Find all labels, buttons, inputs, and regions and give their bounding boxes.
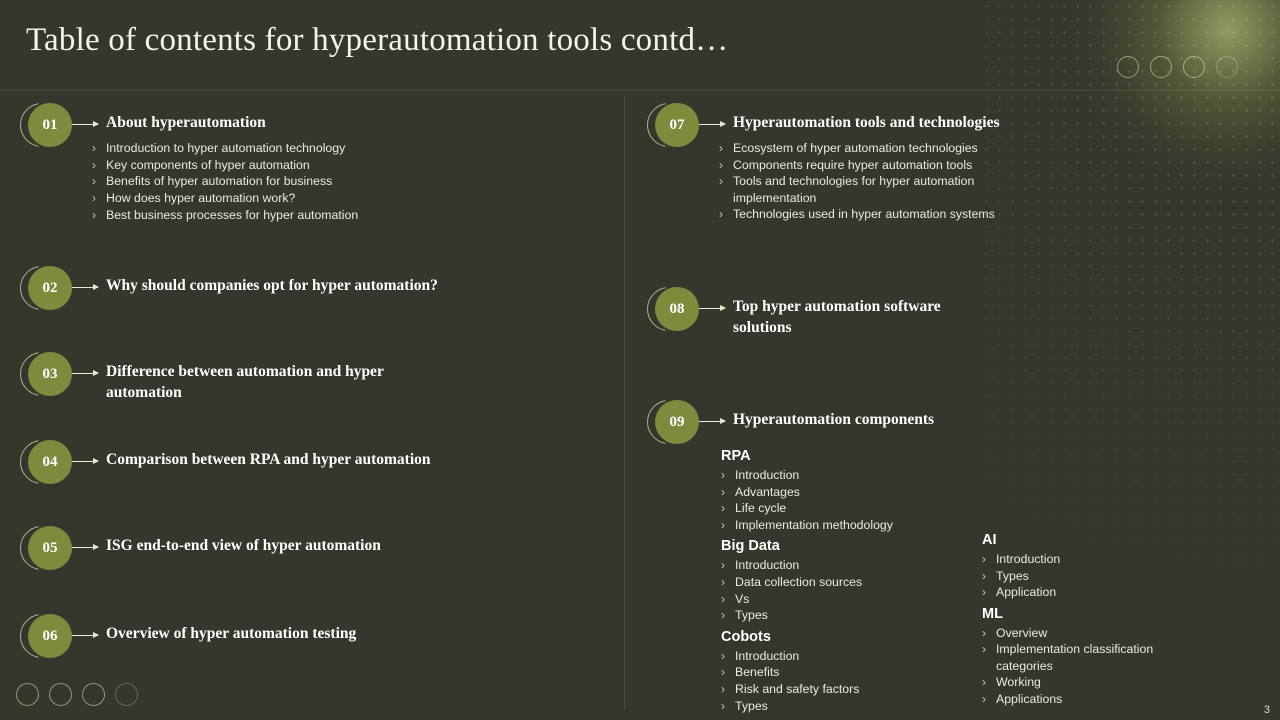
list-item-label: Types: [735, 607, 768, 623]
list-item[interactable]: ›Key components of hyper automation: [92, 157, 542, 173]
toc-number-07: 07: [655, 103, 699, 147]
toc-number-04: 04: [28, 440, 72, 484]
toc-title-06: Overview of hyper automation testing: [106, 614, 356, 645]
toc-title-07: Hyperautomation tools and technologies: [733, 103, 1000, 134]
chevron-right-icon: ›: [982, 674, 996, 690]
list-item-label: Best business processes for hyper automa…: [106, 207, 358, 223]
chevron-right-icon: ›: [92, 173, 106, 189]
toc-number-badge: 09: [641, 400, 703, 444]
list-item[interactable]: ›Tools and technologies for hyper automa…: [719, 173, 1049, 205]
toc-number-badge: 06: [14, 614, 76, 658]
arrow-icon: [72, 635, 98, 636]
list-item[interactable]: ›How does hyper automation work?: [92, 190, 542, 206]
list-item-label: Key components of hyper automation: [106, 157, 310, 173]
list-item[interactable]: ›Implementation methodology: [721, 517, 971, 533]
list-item[interactable]: ›Introduction: [721, 648, 971, 664]
chevron-right-icon: ›: [721, 698, 735, 714]
list-item[interactable]: ›Ecosystem of hyper automation technolog…: [719, 140, 1049, 156]
components-left-groups: RPA ›Introduction ›Advantages ›Life cycl…: [721, 447, 971, 714]
list-item[interactable]: ›Types: [721, 698, 971, 714]
list-item[interactable]: ›Advantages: [721, 484, 971, 500]
list-item-label: Application: [996, 584, 1056, 600]
list-item[interactable]: ›Implementation classification categorie…: [982, 641, 1212, 673]
toc-number-badge: 08: [641, 287, 703, 331]
list-item-label: Risk and safety factors: [735, 681, 859, 697]
chevron-right-icon: ›: [719, 173, 733, 189]
list-item[interactable]: ›Introduction: [721, 557, 971, 573]
list-item-label: Introduction: [735, 557, 799, 573]
chevron-right-icon: ›: [721, 648, 735, 664]
group-heading-cobots: Cobots: [721, 628, 971, 646]
chevron-right-icon: ›: [719, 140, 733, 156]
list-item[interactable]: ›Life cycle: [721, 500, 971, 516]
list-item-label: Components require hyper automation tool…: [733, 157, 972, 173]
list-item-label: Data collection sources: [735, 574, 862, 590]
toc-sublist-01: ›Introduction to hyper automation techno…: [92, 140, 542, 224]
list-item-label: Overview: [996, 625, 1047, 641]
toc-title-09: Hyperautomation components: [733, 400, 934, 431]
group-heading-ml: ML: [982, 605, 1212, 623]
list-item-label: Introduction: [735, 648, 799, 664]
list-item[interactable]: ›Components require hyper automation too…: [719, 157, 1049, 173]
toc-entry-04[interactable]: 04 Comparison between RPA and hyper auto…: [14, 440, 431, 484]
arrow-icon: [699, 124, 725, 125]
chevron-right-icon: ›: [982, 641, 996, 657]
toc-number-01: 01: [28, 103, 72, 147]
chevron-right-icon: ›: [721, 607, 735, 623]
list-item[interactable]: ›Application: [982, 584, 1212, 600]
list-item-label: Types: [996, 568, 1029, 584]
list-item[interactable]: ›Vs: [721, 591, 971, 607]
toc-entry-06[interactable]: 06 Overview of hyper automation testing: [14, 614, 356, 658]
list-item-label: Introduction to hyper automation technol…: [106, 140, 345, 156]
list-item[interactable]: ›Best business processes for hyper autom…: [92, 207, 542, 223]
toc-entry-05[interactable]: 05 ISG end-to-end view of hyper automati…: [14, 526, 381, 570]
chevron-right-icon: ›: [719, 157, 733, 173]
chevron-right-icon: ›: [982, 551, 996, 567]
list-item-label: Technologies used in hyper automation sy…: [733, 206, 995, 222]
toc-title-01: About hyperautomation: [106, 103, 266, 134]
toc-sublist-07: ›Ecosystem of hyper automation technolog…: [719, 140, 1049, 223]
toc-number-badge: 03: [14, 352, 76, 396]
list-item[interactable]: ›Overview: [982, 625, 1212, 641]
list-item-label: Tools and technologies for hyper automat…: [733, 173, 1049, 205]
list-item-label: Ecosystem of hyper automation technologi…: [733, 140, 978, 156]
toc-number-badge: 01: [14, 103, 76, 147]
list-item[interactable]: ›Data collection sources: [721, 574, 971, 590]
list-item[interactable]: ›Technologies used in hyper automation s…: [719, 206, 1049, 222]
arrow-icon: [72, 461, 98, 462]
toc-number-02: 02: [28, 266, 72, 310]
toc-number-08: 08: [655, 287, 699, 331]
list-item-label: Advantages: [735, 484, 800, 500]
toc-entry-09[interactable]: 09 Hyperautomation components: [641, 400, 934, 444]
toc-number-05: 05: [28, 526, 72, 570]
list-item-label: Implementation methodology: [735, 517, 893, 533]
chevron-right-icon: ›: [721, 467, 735, 483]
chevron-right-icon: ›: [92, 207, 106, 223]
arrow-icon: [72, 373, 98, 374]
toc-number-badge: 02: [14, 266, 76, 310]
list-item-label: Benefits of hyper automation for busines…: [106, 173, 332, 189]
toc-title-04: Comparison between RPA and hyper automat…: [106, 440, 431, 471]
toc-title-02: Why should companies opt for hyper autom…: [106, 266, 438, 297]
chevron-right-icon: ›: [982, 691, 996, 707]
chevron-right-icon: ›: [719, 206, 733, 222]
arrow-icon: [699, 421, 725, 422]
group-heading-ai: AI: [982, 531, 1212, 549]
toc-title-08: Top hyper automation software solutions: [733, 287, 993, 339]
list-item-label: Life cycle: [735, 500, 786, 516]
toc-number-badge: 05: [14, 526, 76, 570]
toc-left-column: 01 About hyperautomation ›Introduction t…: [0, 0, 624, 720]
list-item-label: How does hyper automation work?: [106, 190, 295, 206]
arrow-icon: [72, 547, 98, 548]
chevron-right-icon: ›: [92, 157, 106, 173]
list-item[interactable]: ›Types: [982, 568, 1212, 584]
arrow-icon: [72, 124, 98, 125]
toc-entry-02[interactable]: 02 Why should companies opt for hyper au…: [14, 266, 438, 310]
list-item-label: Vs: [735, 591, 749, 607]
toc-number-badge: 04: [14, 440, 76, 484]
list-item-label: Applications: [996, 691, 1062, 707]
list-item[interactable]: ›Benefits: [721, 664, 971, 680]
group-heading-rpa: RPA: [721, 447, 971, 465]
chevron-right-icon: ›: [982, 568, 996, 584]
components-right-groups: AI ›Introduction ›Types ›Application ML …: [982, 531, 1212, 708]
list-item[interactable]: ›Working: [982, 674, 1212, 690]
list-item-label: Benefits: [735, 664, 779, 680]
arrow-icon: [699, 308, 725, 309]
chevron-right-icon: ›: [982, 625, 996, 641]
chevron-right-icon: ›: [721, 681, 735, 697]
list-item[interactable]: ›Benefits of hyper automation for busine…: [92, 173, 542, 189]
toc-number-badge: 07: [641, 103, 703, 147]
chevron-right-icon: ›: [721, 664, 735, 680]
list-item-label: Working: [996, 674, 1041, 690]
chevron-right-icon: ›: [721, 591, 735, 607]
list-item[interactable]: ›Risk and safety factors: [721, 681, 971, 697]
chevron-right-icon: ›: [721, 574, 735, 590]
toc-entry-03[interactable]: 03 Difference between automation and hyp…: [14, 352, 451, 404]
list-item-label: Implementation classification categories: [996, 641, 1166, 673]
chevron-right-icon: ›: [721, 484, 735, 500]
group-heading-big-data: Big Data: [721, 537, 971, 555]
toc-number-03: 03: [28, 352, 72, 396]
toc-number-06: 06: [28, 614, 72, 658]
list-item[interactable]: ›Types: [721, 607, 971, 623]
chevron-right-icon: ›: [92, 140, 106, 156]
chevron-right-icon: ›: [982, 584, 996, 600]
list-item-label: Types: [735, 698, 768, 714]
chevron-right-icon: ›: [721, 517, 735, 533]
list-item[interactable]: ›Introduction: [721, 467, 971, 483]
chevron-right-icon: ›: [721, 500, 735, 516]
toc-entry-08[interactable]: 08 Top hyper automation software solutio…: [641, 287, 993, 339]
list-item[interactable]: ›Applications: [982, 691, 1212, 707]
toc-number-09: 09: [655, 400, 699, 444]
list-item-label: Introduction: [735, 467, 799, 483]
toc-title-03: Difference between automation and hyper …: [106, 352, 451, 404]
list-item[interactable]: ›Introduction to hyper automation techno…: [92, 140, 542, 156]
chevron-right-icon: ›: [721, 557, 735, 573]
toc-right-column: 07 Hyperautomation tools and technologie…: [624, 0, 1280, 720]
list-item-label: Introduction: [996, 551, 1060, 567]
list-item[interactable]: ›Introduction: [982, 551, 1212, 567]
arrow-icon: [72, 287, 98, 288]
toc-title-05: ISG end-to-end view of hyper automation: [106, 526, 381, 557]
chevron-right-icon: ›: [92, 190, 106, 206]
